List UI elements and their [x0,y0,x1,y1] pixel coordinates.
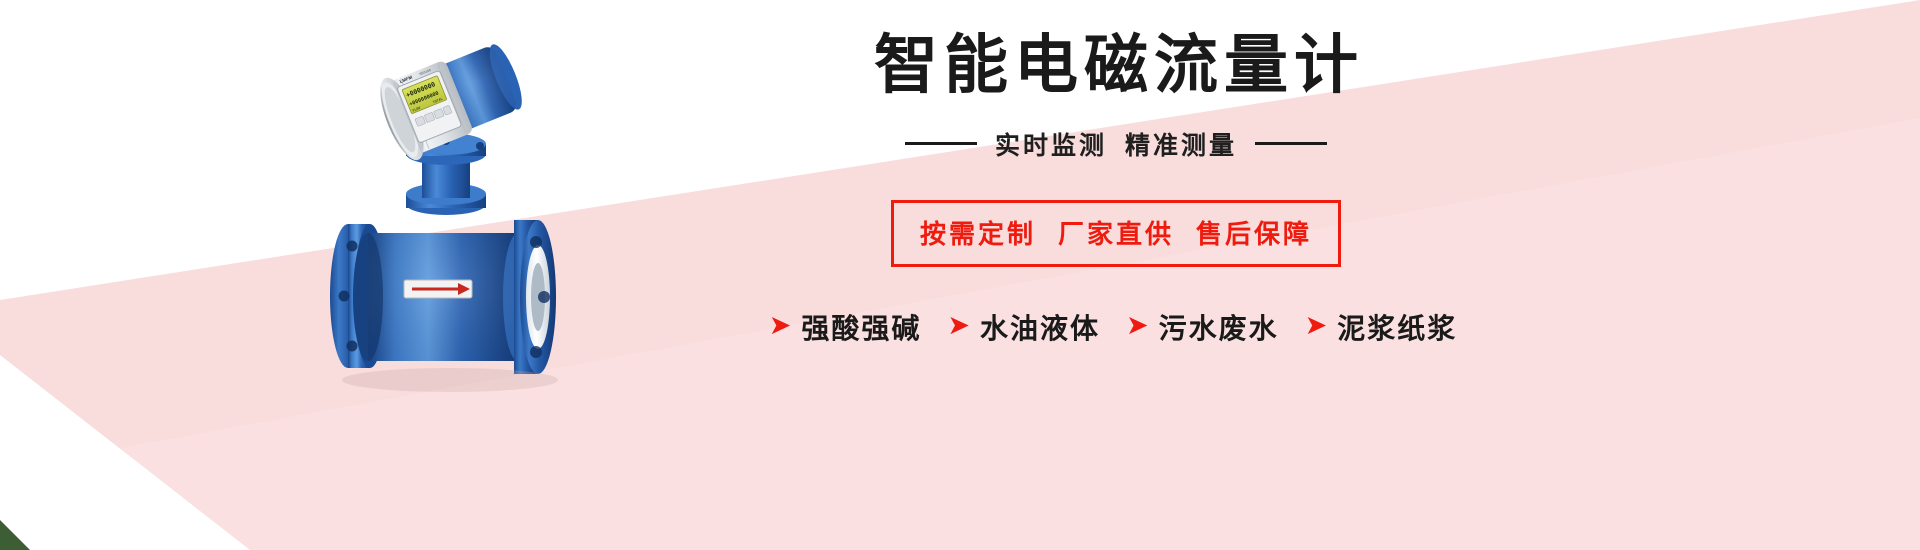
arrow-right-icon: ➤ [1305,312,1328,339]
feature-label-1: 水油液体 [980,307,1100,347]
rule-right [1255,142,1327,145]
highlight-box-wrap: 按需定制厂家直供售后保障 [600,200,1620,267]
feature-label-0: 强酸强碱 [801,307,921,347]
highlight-item-0: 按需定制 [920,219,1036,249]
feature-list: ➤ 强酸强碱 ➤ 水油液体 ➤ 污水废水 ➤ 泥浆纸浆 [600,307,1620,347]
subtitle-right: 精准测量 [1125,126,1237,162]
promo-banner: +0000000 +000000000 FLOW TOTAL LMFM SE01… [0,0,1920,550]
arrow-right-icon: ➤ [769,312,792,339]
highlight-item-2: 售后保障 [1196,219,1312,249]
subtitle-row: 实时监测 精准测量 [600,126,1620,162]
rule-left [905,142,977,145]
list-item: ➤ 水油液体 [947,307,1100,347]
copy-block: 智能电磁流量计 实时监测 精准测量 按需定制厂家直供售后保障 ➤ 强酸强碱 ➤ … [600,28,1620,458]
highlight-box: 按需定制厂家直供售后保障 [891,200,1341,267]
list-item: ➤ 污水废水 [1126,307,1279,347]
feature-label-3: 泥浆纸浆 [1337,307,1457,347]
arrow-right-icon: ➤ [1126,312,1149,339]
feature-label-2: 污水废水 [1159,307,1279,347]
highlight-item-1: 厂家直供 [1058,219,1174,249]
subtitle-left: 实时监测 [995,126,1107,162]
page-title: 智能电磁流量计 [600,28,1620,104]
flow-direction-plate [404,280,472,298]
right-flange [514,220,556,374]
list-item: ➤ 强酸强碱 [769,307,922,347]
arrow-right-icon: ➤ [947,312,970,339]
flowmeter-illustration: +0000000 +000000000 FLOW TOTAL LMFM SE01… [300,8,620,408]
list-item: ➤ 泥浆纸浆 [1305,307,1458,347]
